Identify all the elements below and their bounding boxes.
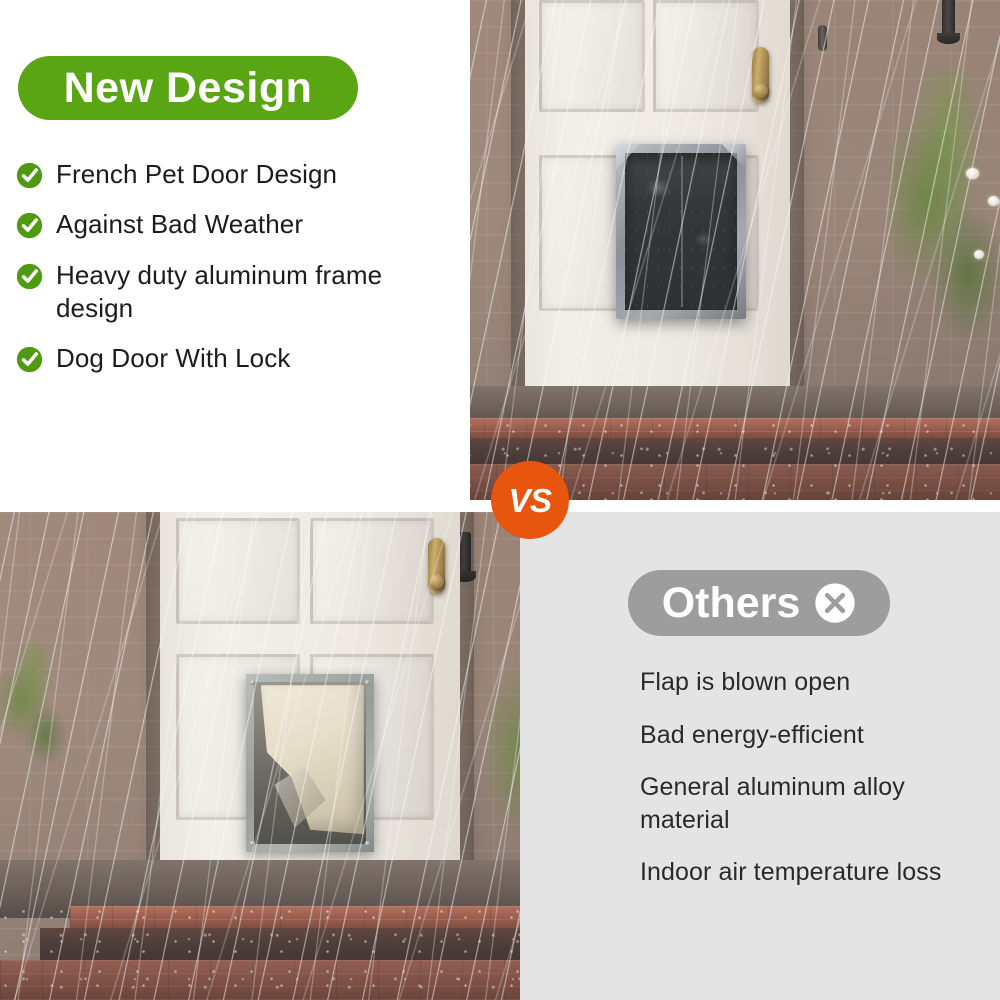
x-circle-icon [814,582,856,624]
door-jamb-right [460,512,474,904]
pet-door-other-blown-open [246,674,374,852]
new-design-badge: New Design [18,56,358,120]
door-panel-upper-right [310,518,434,624]
others-badge-label: Others [662,582,801,625]
check-circle-icon [16,263,43,290]
feature-label: Dog Door With Lock [56,342,290,375]
pet-door-screw-br [365,841,370,846]
foliage-right [890,70,1000,400]
foliage-left [0,642,70,792]
feature-label: French Pet Door Design [56,158,337,191]
check-circle-icon [16,212,43,239]
feature-list: French Pet Door Design Against Bad Weath… [16,158,416,392]
vs-badge: VS [491,461,569,539]
door-jamb-left [511,0,525,410]
pet-door-screw-tr [365,680,370,685]
new-design-badge-label: New Design [64,67,313,110]
drawback-label: Indoor air temperature loss [640,856,970,889]
pet-door-opening [254,682,366,844]
feature-item: Heavy duty aluminum frame design [16,259,416,326]
pet-door-screw-tl [250,680,255,685]
door-jamb-left [146,512,160,904]
flower-c [974,250,984,259]
infographic-canvas: New Design French Pet Door Design Agains… [0,0,1000,1000]
feature-label: Heavy duty aluminum frame design [56,259,416,326]
pet-door-screw-bl [250,841,255,846]
check-circle-icon [16,346,43,373]
others-badge: Others [628,570,890,636]
pet-door-new-flap [625,153,737,310]
door-panel-upper-left [176,518,300,624]
door-panel-upper-left [539,0,645,112]
door-knob [753,83,768,98]
drawback-list: Flap is blown open Bad energy-efficient … [640,666,970,909]
flower-b [988,196,999,206]
pet-door-new-closed [616,144,746,319]
vs-badge-label: VS [508,484,551,517]
drawback-label: General aluminum alloy material [640,771,970,836]
door-knob [429,574,444,589]
flower-a [966,168,979,179]
feature-item: French Pet Door Design [16,158,416,191]
feature-label: Against Bad Weather [56,208,303,241]
drawback-label: Bad energy-efficient [640,719,970,752]
door-panel-upper-right [653,0,759,112]
check-circle-icon [16,162,43,189]
porch-lamp-right [942,0,955,38]
drawback-label: Flap is blown open [640,666,970,699]
feature-item: Dog Door With Lock [16,342,416,375]
feature-item: Against Bad Weather [16,208,416,241]
door-knocker [818,25,827,51]
door-jamb-right [790,0,804,410]
